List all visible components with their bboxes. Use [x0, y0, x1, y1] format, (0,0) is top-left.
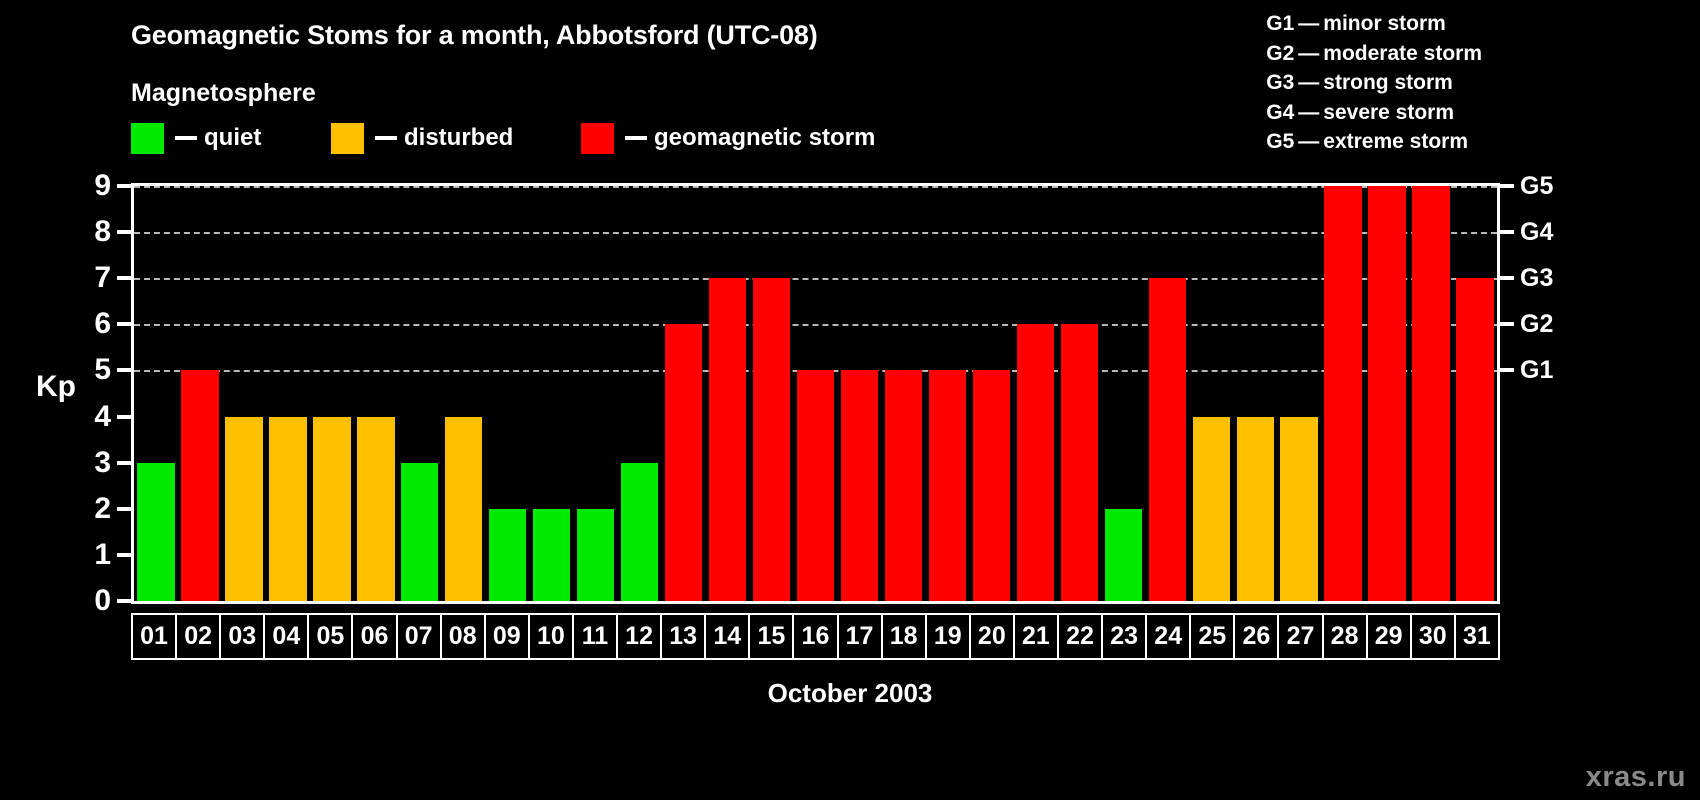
bar-day-23: [1105, 509, 1142, 601]
gscale-code: G2: [1266, 39, 1294, 69]
day-label-06: 06: [353, 615, 397, 658]
gscale-dash-icon: —: [1294, 9, 1323, 39]
bar-slot: [530, 186, 574, 601]
y-tick-label: 7: [94, 259, 111, 297]
bar-slot: [1145, 186, 1189, 601]
gscale-dash-icon: —: [1294, 39, 1323, 69]
day-label-11: 11: [574, 615, 618, 658]
legend-entry-storm: geomagnetic storm: [581, 121, 875, 155]
y-tick-label: 2: [94, 490, 111, 528]
day-label-14: 14: [706, 615, 750, 658]
y-tick-mark-icon: [117, 230, 131, 234]
bar-slot: [706, 186, 750, 601]
y-tick-label: 3: [94, 444, 111, 482]
bar-slot: [398, 186, 442, 601]
bar-slot: [178, 186, 222, 601]
day-label-10: 10: [530, 615, 574, 658]
legend-entry-disturbed: disturbed: [331, 121, 513, 155]
gscale-code: G1: [1266, 9, 1294, 39]
bar-day-06: [357, 417, 394, 601]
bar-day-31: [1456, 278, 1493, 601]
day-label-07: 07: [398, 615, 442, 658]
bar-day-19: [929, 370, 966, 601]
bar-day-09: [489, 509, 526, 601]
bar-day-22: [1061, 324, 1098, 601]
bar-day-08: [445, 417, 482, 601]
bar-day-03: [225, 417, 262, 601]
y-tick-label: 8: [94, 213, 111, 251]
bar-day-29: [1368, 186, 1405, 601]
gscale-legend: G1—minor stormG2—moderate stormG3—strong…: [1266, 9, 1482, 157]
bar-slot: [881, 186, 925, 601]
bar-day-27: [1280, 417, 1317, 601]
y-tick-mark-icon: [117, 276, 131, 280]
bar-day-10: [533, 509, 570, 601]
day-label-15: 15: [750, 615, 794, 658]
bar-slot: [662, 186, 706, 601]
day-label-01: 01: [133, 615, 177, 658]
bar-day-15: [753, 278, 790, 601]
gscale-description: extreme storm: [1323, 127, 1468, 157]
y-tick-mark-icon: [117, 461, 131, 465]
page-title: Geomagnetic Stoms for a month, Abbotsfor…: [131, 20, 818, 51]
bar-slot: [838, 186, 882, 601]
bar-day-01: [137, 463, 174, 601]
bar-day-25: [1193, 417, 1230, 601]
day-label-16: 16: [794, 615, 838, 658]
day-label-30: 30: [1412, 615, 1456, 658]
bar-slot: [222, 186, 266, 601]
gscale-description: moderate storm: [1323, 39, 1482, 69]
day-label-20: 20: [971, 615, 1015, 658]
day-label-03: 03: [221, 615, 265, 658]
y-tick-mark-icon: [117, 322, 131, 326]
legend-swatch-quiet-icon: [131, 123, 164, 154]
day-label-29: 29: [1368, 615, 1412, 658]
gscale-row-g1: G1—minor storm: [1266, 9, 1482, 39]
bar-day-16: [797, 370, 834, 601]
y-axis-title: Kp: [36, 370, 76, 404]
plot-area: [131, 183, 1500, 604]
bar-day-13: [665, 324, 702, 601]
g-tick-mark-icon: [1500, 184, 1514, 188]
bar-slot: [574, 186, 618, 601]
legend-dash-icon: [625, 136, 647, 140]
day-label-22: 22: [1059, 615, 1103, 658]
legend-label-storm: geomagnetic storm: [654, 124, 875, 152]
bar-day-28: [1324, 186, 1361, 601]
day-label-04: 04: [265, 615, 309, 658]
bar-slot: [354, 186, 398, 601]
bar-slot: [1321, 186, 1365, 601]
bar-day-02: [181, 370, 218, 601]
bar-slot: [1453, 186, 1497, 601]
bar-slot: [1013, 186, 1057, 601]
gscale-dash-icon: —: [1294, 127, 1323, 157]
y-tick-mark-icon: [117, 368, 131, 372]
day-label-17: 17: [839, 615, 883, 658]
day-label-24: 24: [1147, 615, 1191, 658]
bar-slot: [794, 186, 838, 601]
bar-day-21: [1017, 324, 1054, 601]
g-tick-label: G1: [1520, 352, 1553, 388]
y-tick-mark-icon: [117, 415, 131, 419]
gscale-code: G3: [1266, 68, 1294, 98]
bar-slot: [1365, 186, 1409, 601]
bar-slot: [1101, 186, 1145, 601]
gscale-description: strong storm: [1323, 68, 1453, 98]
magnetosphere-heading: Magnetosphere: [131, 79, 316, 108]
y-tick-mark-icon: [117, 599, 131, 603]
y-tick-label: 4: [94, 398, 111, 436]
gscale-row-g2: G2—moderate storm: [1266, 39, 1482, 69]
bar-day-20: [973, 370, 1010, 601]
bar-day-14: [709, 278, 746, 601]
legend-label-disturbed: disturbed: [404, 124, 513, 152]
g-tick-label: G4: [1520, 214, 1553, 250]
day-label-09: 09: [486, 615, 530, 658]
gscale-description: minor storm: [1323, 9, 1446, 39]
gscale-code: G5: [1266, 127, 1294, 157]
bar-slot: [310, 186, 354, 601]
legend-swatch-storm-icon: [581, 123, 614, 154]
gscale-row-g4: G4—severe storm: [1266, 98, 1482, 128]
bar-slot: [266, 186, 310, 601]
day-label-26: 26: [1235, 615, 1279, 658]
g-tick-mark-icon: [1500, 276, 1514, 280]
gscale-description: severe storm: [1323, 98, 1454, 128]
y-tick-mark-icon: [117, 553, 131, 557]
y-tick-label: 9: [94, 167, 111, 205]
gscale-row-g5: G5—extreme storm: [1266, 127, 1482, 157]
g-axis: G5G4G3G2G1: [1500, 183, 1700, 604]
bar-day-30: [1412, 186, 1449, 601]
bar-slot: [1233, 186, 1277, 601]
bar-slot: [750, 186, 794, 601]
bar-day-26: [1237, 417, 1274, 601]
bar-slot: [442, 186, 486, 601]
g-tick-mark-icon: [1500, 368, 1514, 372]
day-label-31: 31: [1456, 615, 1498, 658]
bar-slot: [1189, 186, 1233, 601]
bar-slot: [969, 186, 1013, 601]
day-label-27: 27: [1279, 615, 1323, 658]
legend-dash-icon: [375, 136, 397, 140]
day-label-21: 21: [1015, 615, 1059, 658]
x-axis-day-labels: 0102030405060708091011121314151617181920…: [131, 613, 1500, 660]
bar-day-17: [841, 370, 878, 601]
bar-day-24: [1149, 278, 1186, 601]
bar-day-05: [313, 417, 350, 601]
bar-day-07: [401, 463, 438, 601]
gscale-row-g3: G3—strong storm: [1266, 68, 1482, 98]
day-label-28: 28: [1324, 615, 1368, 658]
day-label-19: 19: [927, 615, 971, 658]
bar-series: [134, 186, 1497, 601]
day-label-12: 12: [618, 615, 662, 658]
day-label-18: 18: [883, 615, 927, 658]
bar-slot: [1277, 186, 1321, 601]
g-tick-label: G3: [1520, 260, 1553, 296]
legend-swatch-disturbed-icon: [331, 123, 364, 154]
day-label-13: 13: [662, 615, 706, 658]
y-tick-mark-icon: [117, 507, 131, 511]
y-tick-label: 1: [94, 536, 111, 574]
legend-dash-icon: [175, 136, 197, 140]
y-tick-label: 5: [94, 351, 111, 389]
g-tick-label: G5: [1520, 168, 1553, 204]
bar-slot: [134, 186, 178, 601]
bar-slot: [925, 186, 969, 601]
g-tick-mark-icon: [1500, 322, 1514, 326]
bar-slot: [1409, 186, 1453, 601]
x-axis-title: October 2003: [0, 678, 1700, 709]
bar-slot: [618, 186, 662, 601]
gscale-dash-icon: —: [1294, 98, 1323, 128]
gscale-code: G4: [1266, 98, 1294, 128]
bar-day-11: [577, 509, 614, 601]
legend-label-quiet: quiet: [204, 124, 261, 152]
y-tick-label: 6: [94, 305, 111, 343]
bar-day-12: [621, 463, 658, 601]
day-label-02: 02: [177, 615, 221, 658]
bar-day-18: [885, 370, 922, 601]
plot-inner: [134, 186, 1497, 601]
day-label-05: 05: [309, 615, 353, 658]
legend-entry-quiet: quiet: [131, 121, 261, 155]
y-tick-label: 0: [94, 582, 111, 620]
bar-slot: [486, 186, 530, 601]
g-tick-mark-icon: [1500, 230, 1514, 234]
day-label-23: 23: [1103, 615, 1147, 658]
day-label-25: 25: [1191, 615, 1235, 658]
day-label-08: 08: [442, 615, 486, 658]
y-tick-mark-icon: [117, 184, 131, 188]
gscale-dash-icon: —: [1294, 68, 1323, 98]
watermark: xras.ru: [1586, 761, 1686, 794]
g-tick-label: G2: [1520, 306, 1553, 342]
bar-day-04: [269, 417, 306, 601]
bar-slot: [1057, 186, 1101, 601]
